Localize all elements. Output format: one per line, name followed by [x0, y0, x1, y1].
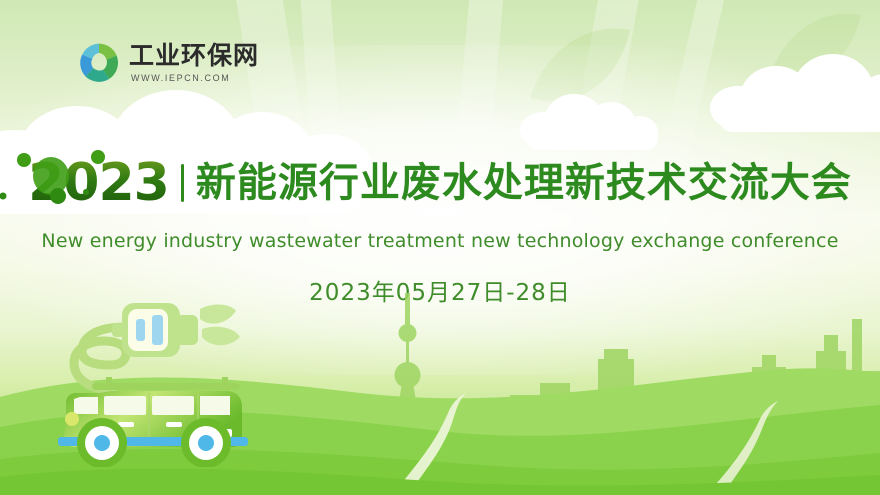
wheel [77, 418, 127, 467]
title-row: 2023 新能源行业废水处理新技术交流大会 [0, 152, 880, 214]
site-logo[interactable]: 工业环保网 WWW.IEPCN.COM [78, 42, 259, 84]
event-title-cn: 新能源行业废水处理新技术交流大会 [196, 163, 852, 203]
rolling-hills [0, 335, 880, 495]
event-title-en: New energy industry wastewater treatment… [0, 230, 880, 252]
leaf-icon [200, 305, 240, 346]
iepcn-circle-logo-icon [78, 42, 120, 84]
event-date: 2023年05月27日-28日 [0, 273, 880, 307]
leaf-icon [760, 4, 870, 114]
event-year: 2023 [28, 157, 169, 209]
charging-plug-icon [112, 303, 198, 357]
logo-website: WWW.IEPCN.COM [131, 74, 259, 83]
logo-company-name: 工业环保网 [129, 44, 259, 69]
wheel [181, 418, 231, 467]
conference-banner: 工业环保网 WWW.IEPCN.COM 2023 新能源行业废水处理新技术交流大… [0, 0, 880, 495]
oriental-pearl-tower-icon [394, 293, 421, 431]
leaf-icon [520, 18, 640, 138]
title-divider [181, 164, 184, 202]
headline-block: 2023 新能源行业废水处理新技术交流大会 New energy industr… [0, 152, 880, 307]
